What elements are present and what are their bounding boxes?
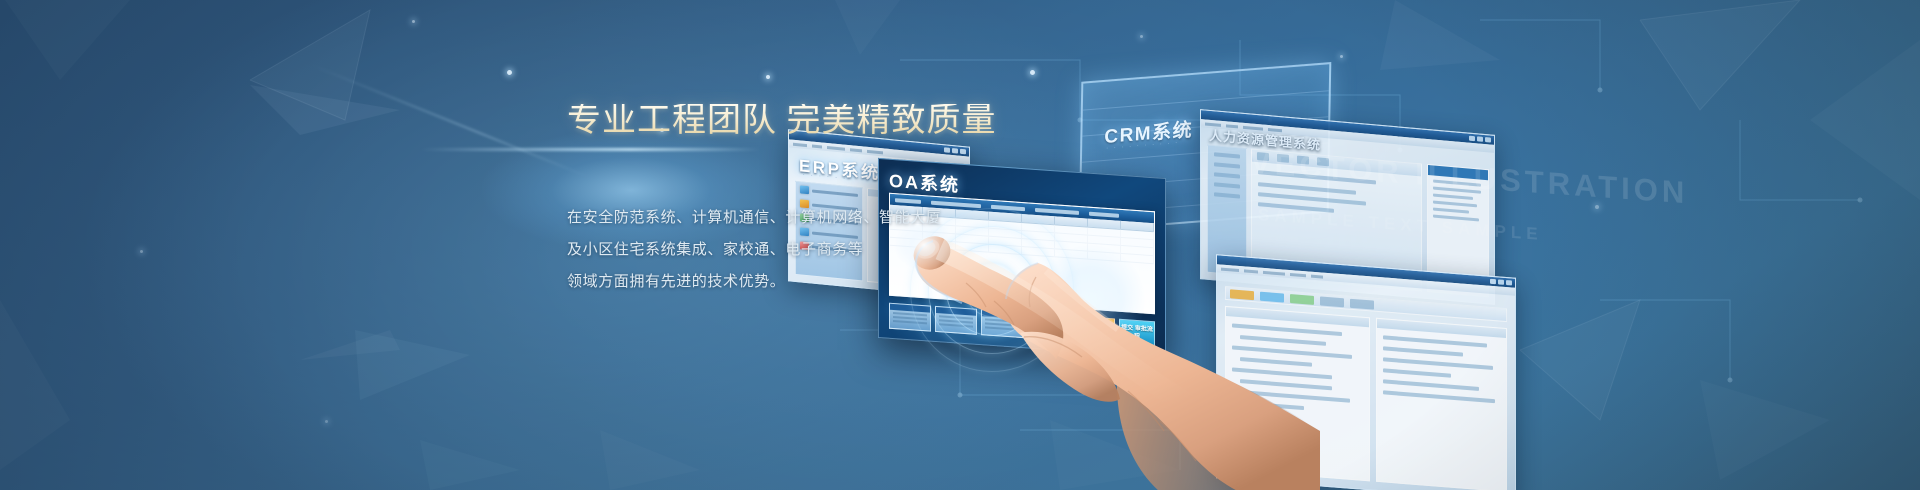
hero-banner: CRM系统 · · · · · · · · · · 人力资源管理系统 [0, 0, 1920, 490]
pointing-hand [870, 225, 1320, 490]
light-ray-secondary [311, 64, 590, 178]
page-title: 专业工程团队 完美精致质量 [567, 104, 1007, 138]
